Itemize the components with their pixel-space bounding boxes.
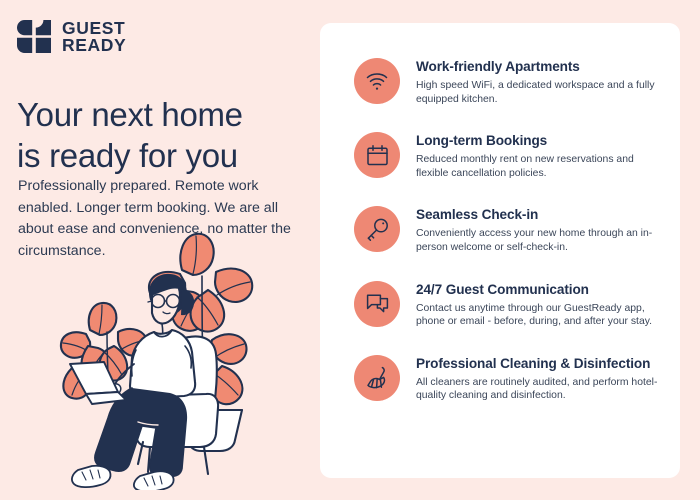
feature-description: Contact us anytime through our GuestRead… xyxy=(416,302,661,329)
brand-wordmark: GUEST READY xyxy=(62,20,126,53)
hero-illustration xyxy=(30,228,312,490)
broom-icon xyxy=(365,365,390,390)
feature-text: Seamless Check-in Conveniently access yo… xyxy=(416,205,661,254)
feature-item-guest-communication[interactable]: 24/7 Guest Communication Contact us anyt… xyxy=(320,280,680,329)
key-icon xyxy=(365,217,390,242)
feature-description: High speed WiFi, a dedicated workspace a… xyxy=(416,79,661,106)
feature-title: Professional Cleaning & Disinfection xyxy=(416,355,661,372)
feature-list: Work-friendly Apartments High speed WiFi… xyxy=(320,23,680,403)
brand-logo[interactable]: GUEST READY xyxy=(17,20,126,53)
feature-item-seamless-check-in[interactable]: Seamless Check-in Conveniently access yo… xyxy=(320,205,680,254)
wifi-icon-badge xyxy=(354,58,400,104)
page-title: Your next home is ready for you xyxy=(17,94,317,176)
feature-text: Long-term Bookings Reduced monthly rent … xyxy=(416,131,661,180)
chat-bubbles-icon xyxy=(365,291,390,316)
feature-title: Long-term Bookings xyxy=(416,132,661,149)
person-with-laptop xyxy=(70,274,195,490)
key-icon-badge xyxy=(354,206,400,252)
feature-title: Seamless Check-in xyxy=(416,206,661,223)
calendar-icon xyxy=(365,143,390,168)
feature-text: 24/7 Guest Communication Contact us anyt… xyxy=(416,280,661,329)
feature-title: Work-friendly Apartments xyxy=(416,58,661,75)
feature-text: Professional Cleaning & Disinfection All… xyxy=(416,354,661,403)
wifi-icon xyxy=(364,68,390,94)
marketing-poster: GUEST READY Your next home is ready for … xyxy=(0,0,700,500)
feature-item-professional-cleaning[interactable]: Professional Cleaning & Disinfection All… xyxy=(320,354,680,403)
left-content-column: GUEST READY Your next home is ready for … xyxy=(0,0,320,500)
headline-line-2: is ready for you xyxy=(17,135,317,176)
guestready-quadrant-logo-icon xyxy=(17,20,51,53)
feature-description: Conveniently access your new home throug… xyxy=(416,227,661,254)
feature-item-work-friendly-apartments[interactable]: Work-friendly Apartments High speed WiFi… xyxy=(320,57,680,106)
brand-name-line-2: READY xyxy=(62,37,126,54)
feature-description: Reduced monthly rent on new reservations… xyxy=(416,153,661,180)
feature-title: 24/7 Guest Communication xyxy=(416,281,661,298)
feature-item-long-term-bookings[interactable]: Long-term Bookings Reduced monthly rent … xyxy=(320,131,680,180)
calendar-icon-badge xyxy=(354,132,400,178)
broom-icon-badge xyxy=(354,355,400,401)
feature-text: Work-friendly Apartments High speed WiFi… xyxy=(416,57,661,106)
headline-line-1: Your next home xyxy=(17,94,317,135)
chat-bubbles-icon-badge xyxy=(354,281,400,327)
features-panel: Work-friendly Apartments High speed WiFi… xyxy=(320,23,680,478)
feature-description: All cleaners are routinely audited, and … xyxy=(416,376,661,403)
